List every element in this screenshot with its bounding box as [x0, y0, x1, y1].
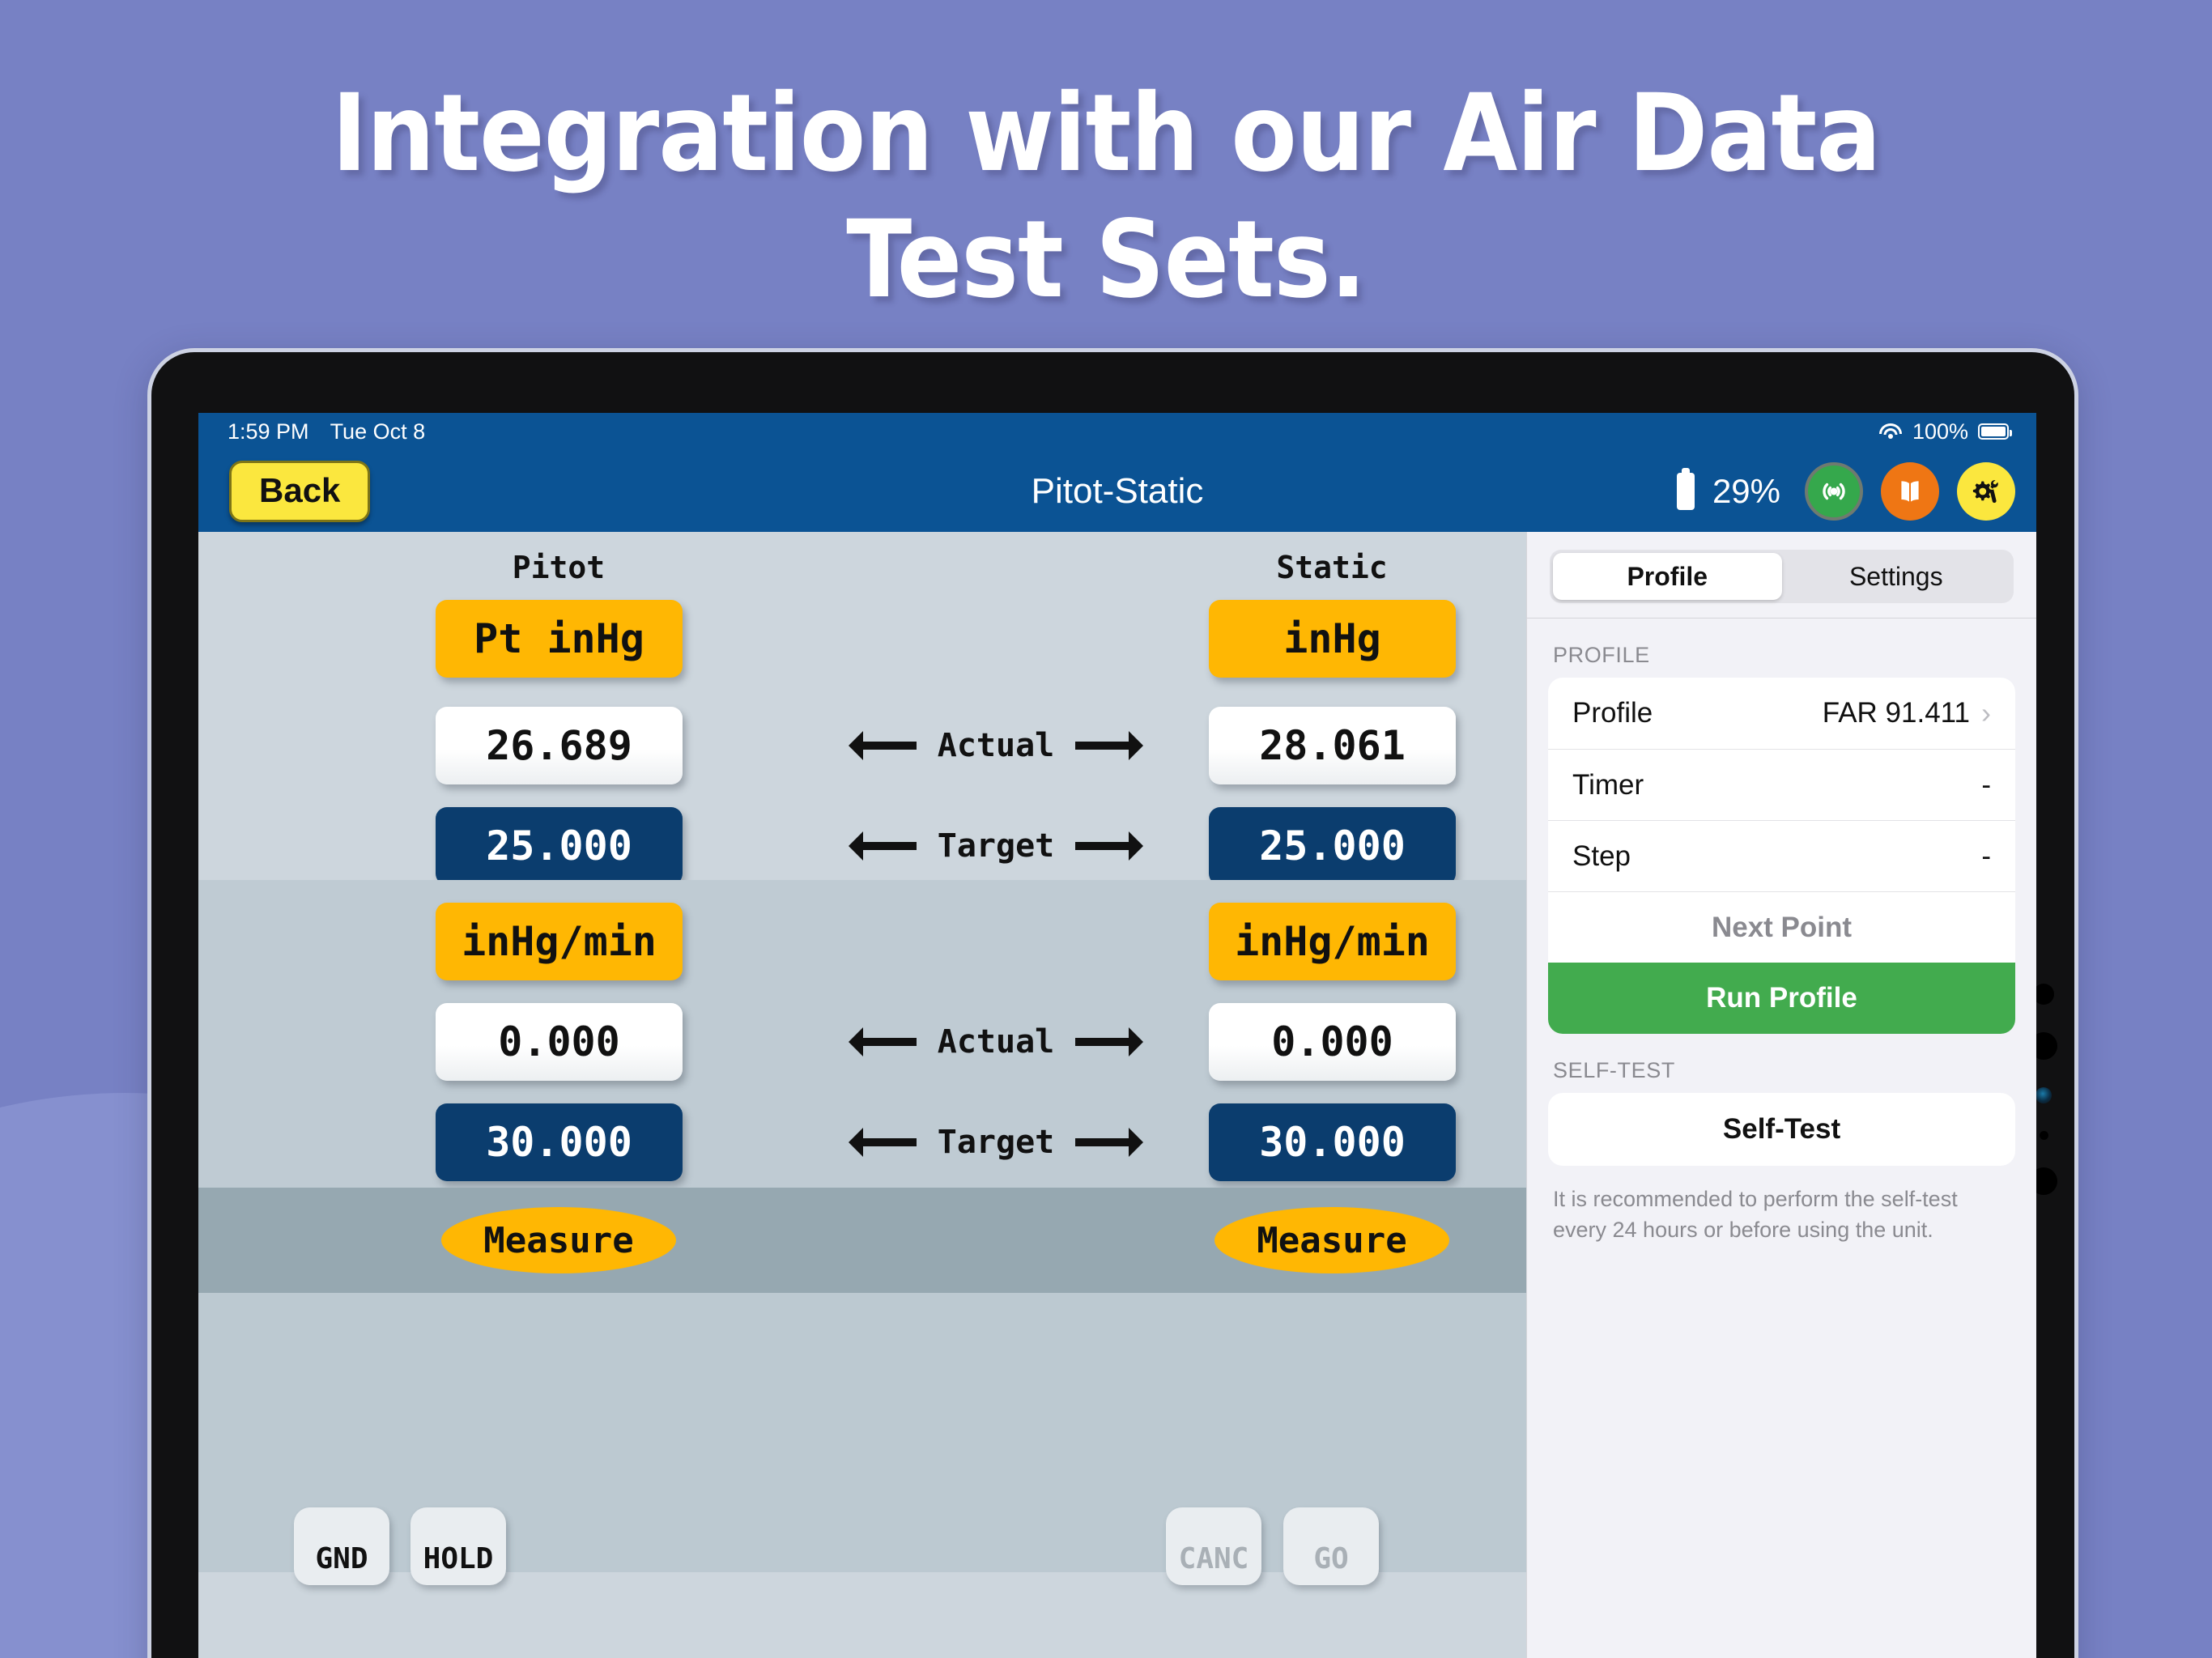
app-screen: 1:59 PM Tue Oct 8 100% Back Pitot-Static… [198, 413, 2036, 1658]
status-battery-percent: 100% [1912, 419, 1968, 444]
tab-settings[interactable]: Settings [1782, 553, 2011, 600]
profile-row[interactable]: Profile FAR 91.411 › [1548, 678, 2015, 749]
pitot-rate-unit-button[interactable]: inHg/min [436, 903, 683, 980]
rate-target-row-label: Target [798, 1103, 1194, 1181]
timer-row: Timer - [1548, 749, 2015, 820]
step-row-value: - [1981, 840, 1991, 873]
pitot-rate-actual-value: 0.000 [436, 1003, 683, 1081]
wifi-icon [1878, 423, 1903, 440]
tablet-device-frame: 1:59 PM Tue Oct 8 100% Back Pitot-Static… [147, 348, 2078, 1658]
chevron-right-icon: › [1981, 696, 1991, 730]
gnd-button[interactable]: GND [294, 1507, 389, 1585]
profile-row-label: Profile [1572, 697, 1653, 729]
book-icon[interactable] [1881, 462, 1939, 521]
target-row-label: Target [798, 807, 1194, 885]
arrow-left-icon [853, 742, 917, 750]
column-header-pitot: Pitot [437, 550, 680, 585]
broadcast-icon[interactable] [1805, 462, 1863, 521]
arrow-left-icon [853, 842, 917, 850]
segmented-control[interactable]: Profile Settings [1550, 550, 2014, 603]
status-time: 1:59 PM [228, 419, 309, 444]
self-test-button[interactable]: Self-Test [1548, 1093, 2015, 1166]
arrow-right-icon [1075, 842, 1138, 850]
step-row: Step - [1548, 820, 2015, 891]
back-button[interactable]: Back [229, 461, 370, 522]
segmented-control-wrapper: Profile Settings [1527, 532, 2036, 618]
profile-section-header: PROFILE [1527, 619, 2036, 678]
rate-actual-label-text: Actual [938, 1023, 1055, 1061]
self-test-section-header: SELF-TEST [1527, 1034, 2036, 1093]
app-nav-bar: Back Pitot-Static 29% [198, 450, 2036, 532]
rate-actual-row-label: Actual [798, 1003, 1194, 1081]
pitot-static-panel: Pitot Static Pt inHg inHg 26.689 28.061 … [198, 532, 1526, 1658]
go-button[interactable]: GO [1283, 1507, 1379, 1585]
static-unit-button[interactable]: inHg [1209, 600, 1456, 678]
static-rate-target-button[interactable]: 30.000 [1209, 1103, 1456, 1181]
pitot-actual-value: 26.689 [436, 707, 683, 784]
pitot-measure-button[interactable]: Measure [441, 1207, 676, 1273]
arrow-left-icon [853, 1038, 917, 1046]
battery-full-icon [1978, 423, 2009, 440]
page-headline: Integration with our Air Data Test Sets. [0, 71, 2212, 324]
arrow-right-icon [1075, 1138, 1138, 1146]
cancel-button[interactable]: CANC [1166, 1507, 1261, 1585]
column-header-static: Static [1210, 550, 1453, 585]
actual-label-text: Actual [938, 727, 1055, 764]
hold-button[interactable]: HOLD [410, 1507, 506, 1585]
static-actual-value: 28.061 [1209, 707, 1456, 784]
bezel-lens-icon [2035, 1087, 2052, 1103]
profile-row-value: FAR 91.411 [1823, 697, 1970, 729]
gear-wrench-icon[interactable] [1957, 462, 2015, 521]
screen-content: Pitot Static Pt inHg inHg 26.689 28.061 … [198, 532, 2036, 1658]
bezel-sensor-icon [2040, 1131, 2048, 1140]
static-target-button[interactable]: 25.000 [1209, 807, 1456, 885]
arrow-left-icon [853, 1138, 917, 1146]
target-label-text: Target [938, 827, 1055, 865]
controls-section: GND HOLD CANC GO [198, 1293, 1526, 1572]
status-date: Tue Oct 8 [330, 419, 426, 444]
device-battery-percent: 29% [1712, 472, 1780, 511]
pressure-section: Pitot Static Pt inHg inHg 26.689 28.061 … [198, 532, 1526, 880]
profile-card: Profile FAR 91.411 › Timer - Step - [1548, 678, 2015, 1034]
self-test-footnote: It is recommended to perform the self-te… [1527, 1166, 2036, 1246]
actual-row-label: Actual [798, 707, 1194, 784]
rate-section: inHg/min inHg/min 0.000 0.000 Actual 30.… [198, 880, 1526, 1188]
static-rate-unit-button[interactable]: inHg/min [1209, 903, 1456, 980]
pitot-target-button[interactable]: 25.000 [436, 807, 683, 885]
static-measure-button[interactable]: Measure [1214, 1207, 1449, 1273]
run-profile-button[interactable]: Run Profile [1548, 963, 2015, 1034]
timer-row-label: Timer [1572, 769, 1644, 801]
tab-profile[interactable]: Profile [1553, 553, 1782, 600]
pitot-unit-button[interactable]: Pt inHg [436, 600, 683, 678]
measure-section: Measure Measure [198, 1188, 1526, 1293]
ios-status-bar: 1:59 PM Tue Oct 8 100% [198, 413, 2036, 450]
battery-icon [1677, 473, 1695, 510]
side-panel: Profile Settings PROFILE Profile FAR 91.… [1526, 532, 2036, 1658]
arrow-right-icon [1075, 742, 1138, 750]
timer-row-value: - [1981, 769, 1991, 801]
step-row-label: Step [1572, 840, 1631, 873]
next-point-button[interactable]: Next Point [1548, 891, 2015, 963]
pitot-rate-target-button[interactable]: 30.000 [436, 1103, 683, 1181]
static-rate-actual-value: 0.000 [1209, 1003, 1456, 1081]
rate-target-label-text: Target [938, 1124, 1055, 1161]
arrow-right-icon [1075, 1038, 1138, 1046]
